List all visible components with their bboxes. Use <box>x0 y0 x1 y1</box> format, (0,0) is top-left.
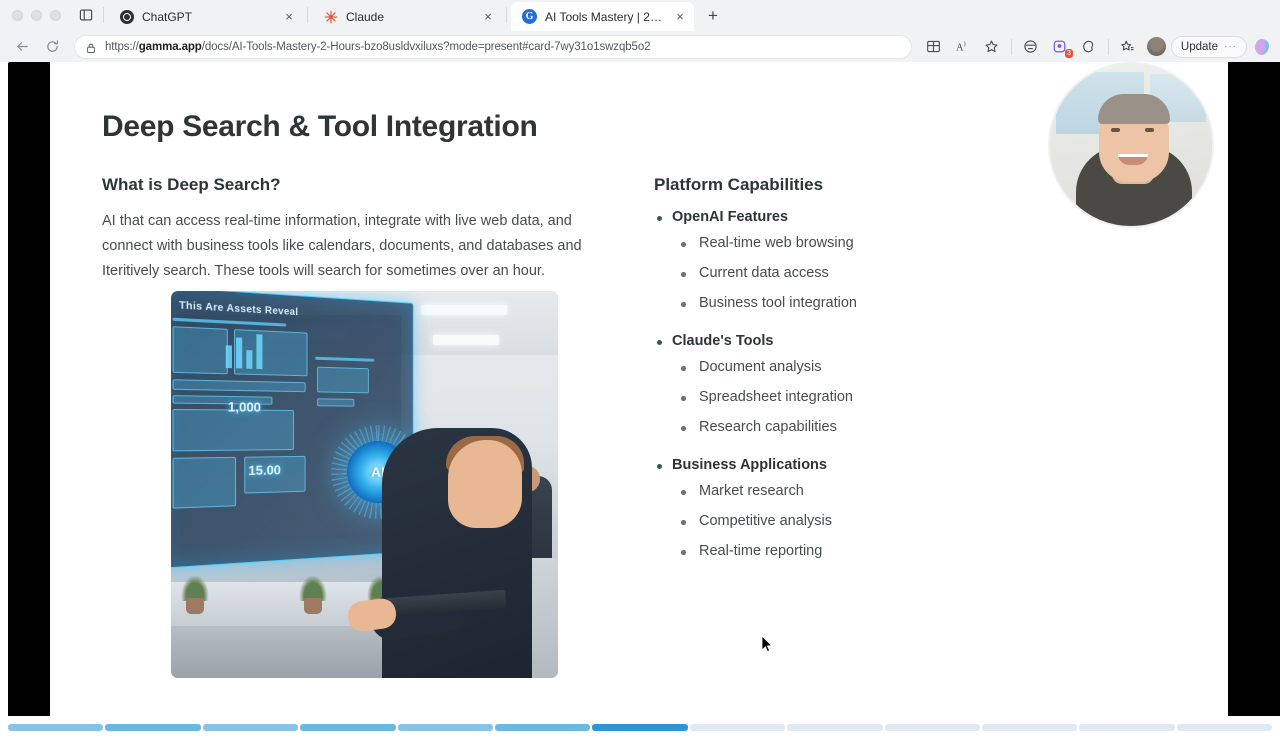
sub-list: Document analysis Spreadsheet integratio… <box>677 359 1134 435</box>
tab-title: Claude <box>346 10 472 24</box>
ai-office-holographic-display-photo: This Are Assets Reveal 1,000 15.00 <box>171 291 558 678</box>
divider <box>506 7 507 23</box>
refresh-icon[interactable] <box>38 34 66 60</box>
extensions-icon[interactable]: 3 <box>1046 34 1074 60</box>
list-item: Market research <box>677 483 1134 499</box>
list-item: Real-time reporting <box>677 543 1134 559</box>
tab-claude[interactable]: Claude × <box>312 2 502 31</box>
progress-segment[interactable] <box>885 724 980 731</box>
progress-segment[interactable] <box>398 724 493 731</box>
left-paragraph: AI that can access real-time information… <box>102 209 599 284</box>
list-item: Real-time web browsing <box>677 235 1134 251</box>
right-column: Platform Capabilities OpenAI Features Re… <box>654 175 1134 581</box>
letterbox-left <box>8 62 50 718</box>
group-label: OpenAI Features <box>654 209 1134 225</box>
tab-title: ChatGPT <box>142 10 273 24</box>
group-label: Business Applications <box>654 457 1134 473</box>
progress-segment-current[interactable] <box>592 724 687 731</box>
star-icon[interactable] <box>978 34 1006 60</box>
letterbox-right <box>1228 62 1280 718</box>
list-item: Spreadsheet integration <box>677 389 1134 405</box>
progress-segment[interactable] <box>203 724 298 731</box>
progress-segment[interactable] <box>8 724 103 731</box>
list-item: Current data access <box>677 265 1134 281</box>
svg-text:): ) <box>964 41 966 48</box>
update-button[interactable]: Update ··· <box>1171 36 1247 58</box>
update-more-icon[interactable]: ··· <box>1224 41 1237 52</box>
right-section-heading: Platform Capabilities <box>654 175 1134 195</box>
progress-segment[interactable] <box>1079 724 1174 731</box>
progress-segment[interactable] <box>982 724 1077 731</box>
close-tab-icon[interactable]: × <box>672 9 688 25</box>
slide: Deep Search & Tool Integration What is D… <box>50 62 1228 718</box>
progress-segment[interactable] <box>1177 724 1272 731</box>
browser-window: ChatGPT × Claude × G AI Tools Mastery | … <box>0 0 1280 739</box>
browser-toolbar: https://gamma.app/docs/AI-Tools-Mastery-… <box>0 31 1280 62</box>
divider <box>307 7 308 23</box>
list-item: Research capabilities <box>677 419 1134 435</box>
list-item: Business Applications Market research Co… <box>654 457 1134 559</box>
progress-segment[interactable] <box>690 724 785 731</box>
left-section-heading: What is Deep Search? <box>102 175 602 195</box>
progress-segment[interactable] <box>495 724 590 731</box>
window-controls <box>6 0 73 31</box>
chatgpt-icon <box>119 9 134 24</box>
back-arrow-icon[interactable] <box>8 34 36 60</box>
list-item: OpenAI Features Real-time web browsing C… <box>654 209 1134 311</box>
left-column: What is Deep Search? AI that can access … <box>102 175 602 284</box>
read-aloud-icon[interactable]: A) <box>949 34 977 60</box>
divider <box>103 7 104 23</box>
presentation-viewport: Deep Search & Tool Integration What is D… <box>0 62 1280 739</box>
holo-headline: This Are Assets Reveal <box>179 300 298 318</box>
copilot-icon[interactable] <box>1252 37 1272 57</box>
update-label: Update <box>1181 41 1218 53</box>
address-bar[interactable]: https://gamma.app/docs/AI-Tools-Mastery-… <box>74 35 912 59</box>
split-screen-icon[interactable] <box>920 34 948 60</box>
progress-segment[interactable] <box>105 724 200 731</box>
holo-value-1: 1,000 <box>228 399 261 415</box>
holo-value-2: 15.00 <box>248 462 281 478</box>
sub-list: Real-time web browsing Current data acce… <box>677 235 1134 311</box>
favorites-icon[interactable] <box>1114 34 1142 60</box>
close-tab-icon[interactable]: × <box>480 9 496 25</box>
close-tab-icon[interactable]: × <box>281 9 297 25</box>
list-item: Claude's Tools Document analysis Spreads… <box>654 333 1134 435</box>
profile-avatar[interactable] <box>1147 37 1166 56</box>
slide-progress-bar[interactable] <box>8 724 1272 733</box>
close-window-button[interactable] <box>12 10 23 21</box>
minimize-window-button[interactable] <box>31 10 42 21</box>
tab-ai-tools-mastery[interactable]: G AI Tools Mastery | 2 Hours × <box>511 2 694 31</box>
tab-chatgpt[interactable]: ChatGPT × <box>108 2 303 31</box>
page-title: Deep Search & Tool Integration <box>102 110 538 144</box>
tab-list-icon[interactable] <box>73 2 99 28</box>
progress-segment[interactable] <box>787 724 882 731</box>
list-item: Competitive analysis <box>677 513 1134 529</box>
group-label: Claude's Tools <box>654 333 1134 349</box>
lock-icon <box>85 41 97 53</box>
extensions-badge-count: 3 <box>1065 49 1073 58</box>
progress-segment[interactable] <box>300 724 395 731</box>
url-text: https://gamma.app/docs/AI-Tools-Mastery-… <box>105 41 650 53</box>
list-item: Business tool integration <box>677 295 1134 311</box>
capabilities-list: OpenAI Features Real-time web browsing C… <box>654 209 1134 559</box>
new-tab-button[interactable]: + <box>700 3 726 29</box>
tab-strip: ChatGPT × Claude × G AI Tools Mastery | … <box>0 0 1280 31</box>
tab-title: AI Tools Mastery | 2 Hours <box>545 10 664 24</box>
sub-list: Market research Competitive analysis Rea… <box>677 483 1134 559</box>
gamma-icon: G <box>522 9 537 24</box>
collections-icon[interactable] <box>1075 34 1103 60</box>
maximize-window-button[interactable] <box>50 10 61 21</box>
list-item: Document analysis <box>677 359 1134 375</box>
browser-essentials-icon[interactable] <box>1017 34 1045 60</box>
toolbar-actions: A) 3 <box>920 34 1272 60</box>
claude-icon <box>323 9 338 24</box>
